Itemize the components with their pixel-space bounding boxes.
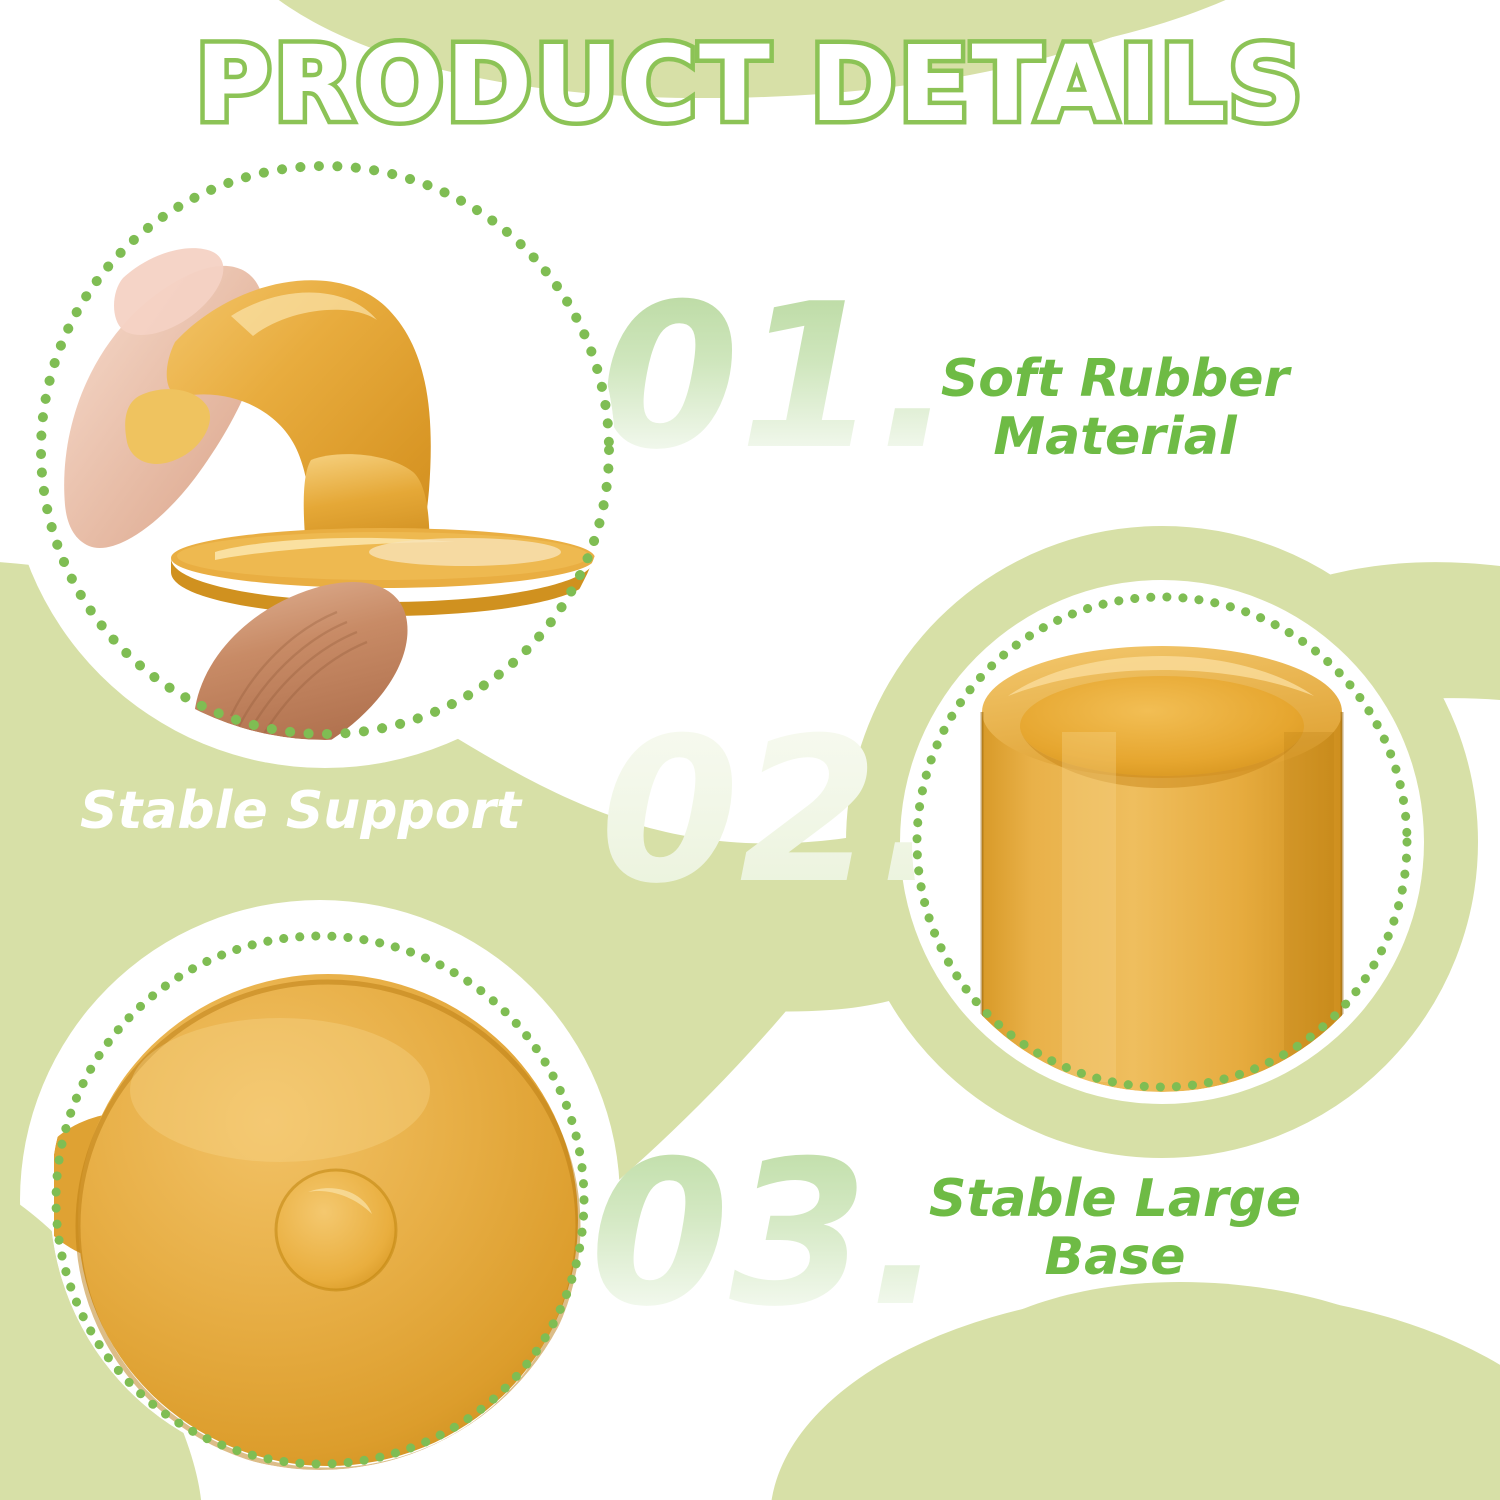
feature-image-1 [35,160,615,740]
base-disc-sheen [130,1018,430,1162]
page-title-wrapper: PRODUCT DETAILS [0,28,1500,140]
feature-label-3: Stable Large Base [905,1170,1325,1286]
cylinder-side-shade [1284,732,1334,1082]
feature-label-2: Stable Support [80,782,580,840]
cylinder-side-shine [1062,732,1116,1082]
rubber-cylinder-hollow-top-illustration [912,592,1412,1092]
page-title: PRODUCT DETAILS [195,28,1305,140]
flange-inner-pale [369,538,561,566]
product-details-infographic: PRODUCT DETAILS [0,0,1500,1500]
feature-image-2 [912,592,1412,1092]
rubber-base-disc-with-hole-illustration [50,930,590,1470]
feature-label-1: Soft Rubber Material [905,350,1325,466]
step-number-02: 02. [600,712,954,912]
feature-image-3 [50,930,590,1470]
rubber-cap-bent-by-fingers-illustration [35,160,615,740]
step-number-03: 03. [590,1135,944,1335]
step-number-01: 01. [600,278,954,478]
